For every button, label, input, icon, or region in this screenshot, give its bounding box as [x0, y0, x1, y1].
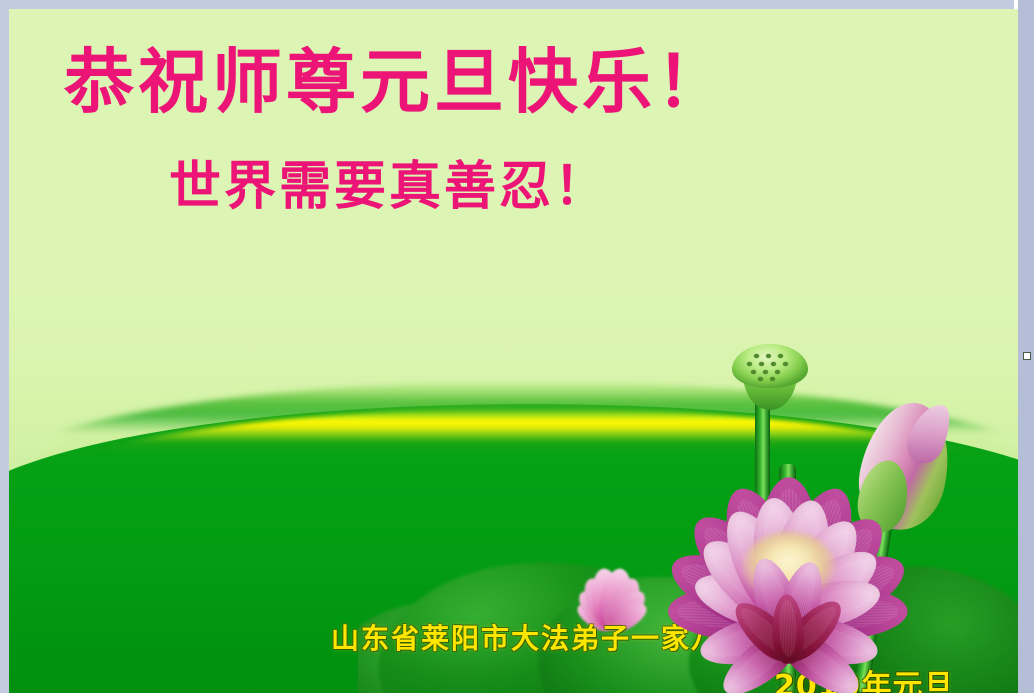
seed-pod-hole	[754, 354, 759, 358]
window-chrome-left	[0, 0, 9, 693]
card-title: 恭祝师尊元旦快乐！	[64, 47, 730, 117]
lotus-bloom-icon	[624, 394, 954, 654]
seed-pod-hole	[759, 362, 764, 366]
screenshot-stage: 恭祝师尊元旦快乐！ 世界需要真善忍！ 山东省莱阳市大法弟子一家八口人恭贺 201…	[0, 0, 1034, 693]
seed-pod-hole	[771, 362, 776, 366]
seed-pod-hole	[747, 362, 752, 366]
greeting-card: 恭祝师尊元旦快乐！ 世界需要真善忍！ 山东省莱阳市大法弟子一家八口人恭贺 201…	[9, 9, 1018, 693]
seed-pod-hole	[758, 377, 763, 381]
seed-pod-hole	[778, 354, 783, 358]
seed-pod-cup	[732, 344, 808, 388]
seed-pod-hole	[770, 377, 775, 381]
seed-pod-hole	[751, 370, 756, 374]
window-chrome-top	[0, 0, 1034, 9]
seed-pod-hole	[775, 370, 780, 374]
window-scrollbar-track[interactable]	[1018, 0, 1034, 693]
seed-pod-hole	[763, 370, 768, 374]
resize-handle-icon[interactable]	[1023, 352, 1031, 360]
seed-pod-hole	[766, 354, 771, 358]
seed-pod-hole	[783, 362, 788, 366]
card-subtitle: 世界需要真善忍！	[169, 161, 609, 213]
